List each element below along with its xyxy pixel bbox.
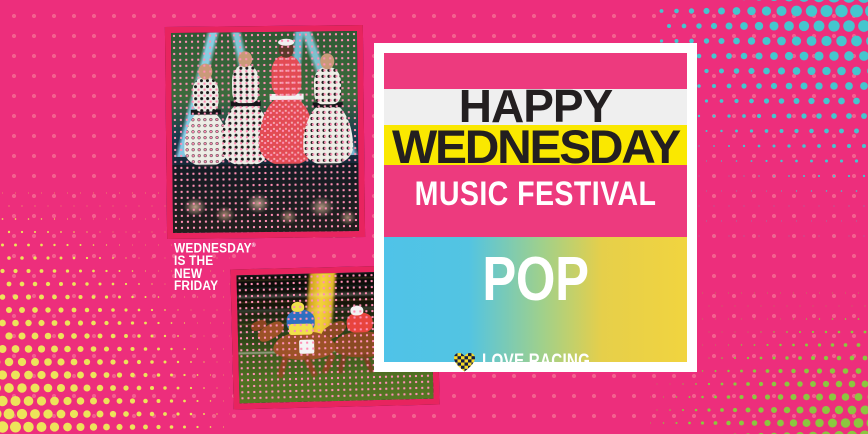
tagline-wednesday-is-the-new-friday: WEDNESDAY® IS THE NEW FRIDAY — [174, 240, 256, 293]
poster-headline-wednesday: WEDNESDAY — [381, 123, 690, 170]
poster-subtitle-music-festival: MUSIC FESTIVAL — [408, 177, 663, 211]
tagline-line-4: FRIDAY — [174, 280, 256, 293]
checkered-heart-icon — [454, 353, 475, 372]
love-racing-logo: LOVE RACING — [384, 351, 687, 373]
love-racing-logo-text: LOVE RACING — [482, 351, 590, 373]
registered-mark: ® — [252, 243, 256, 249]
poster-genre-pop: POP — [411, 249, 659, 311]
event-poster: HAPPY WEDNESDAY MUSIC FESTIVAL POP — [374, 43, 697, 372]
photo-dancers-on-stage — [165, 25, 365, 239]
banner-canvas: WEDNESDAY® IS THE NEW FRIDAY HAPPY WEDNE… — [0, 0, 868, 434]
